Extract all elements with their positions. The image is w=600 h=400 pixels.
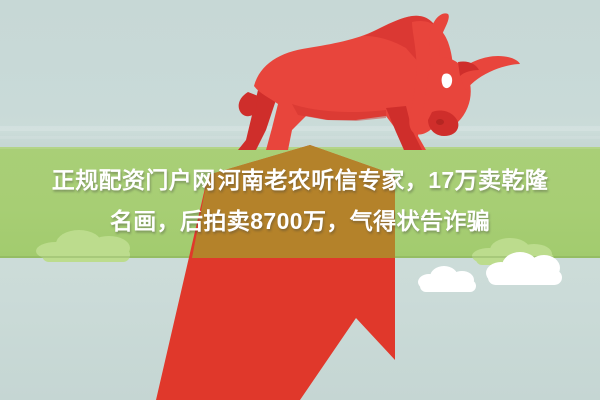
cloud-base: [488, 270, 562, 285]
headline-line-1: 正规配资门户网河南老农听信专家，17万卖乾隆: [0, 160, 600, 201]
cloud-base: [420, 280, 476, 292]
headline-line-1-rest: 河南老农听信专家，17万卖乾隆: [218, 167, 549, 193]
bush-lobe: [42, 248, 130, 262]
headline-line-2: 名画，后拍卖8700万，气得状告诈骗: [0, 201, 600, 242]
site-name: 正规配资门户网: [52, 167, 216, 193]
banner-image: 正规配资门户网河南老农听信专家，17万卖乾隆 名画，后拍卖8700万，气得状告诈…: [0, 0, 600, 400]
headline-text: 正规配资门户网河南老农听信专家，17万卖乾隆 名画，后拍卖8700万，气得状告诈…: [0, 160, 600, 242]
charging-bull-icon: [236, 12, 536, 152]
